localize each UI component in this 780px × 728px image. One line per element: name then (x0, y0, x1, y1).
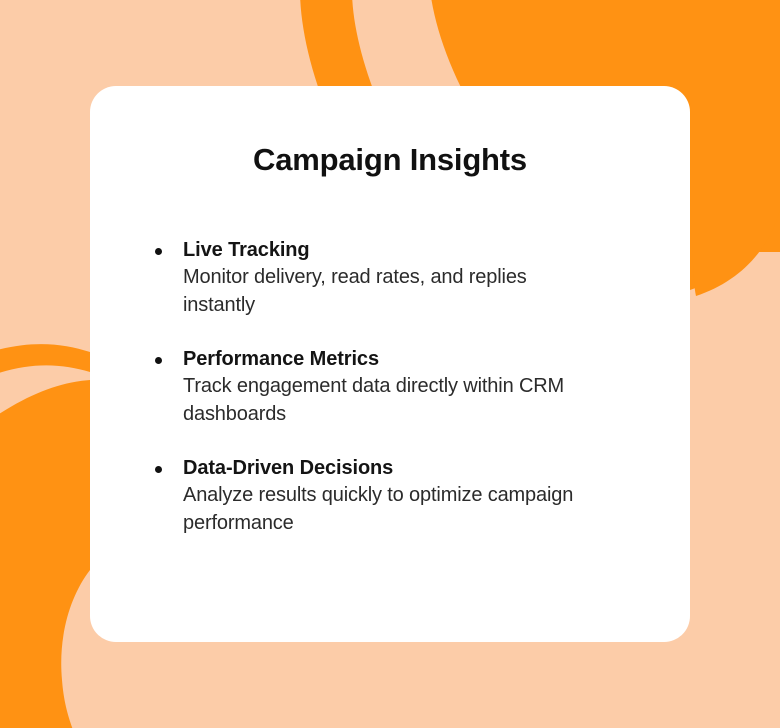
bullet-icon (155, 248, 162, 255)
insights-card: Campaign Insights Live Tracking Monitor … (90, 86, 690, 642)
right-orange-bulge-shape (690, 86, 780, 296)
bottom-left-orange-blob-shape (0, 380, 90, 728)
list-item-description: Monitor delivery, read rates, and replie… (183, 263, 603, 319)
bullet-icon (155, 466, 162, 473)
list-item: Live Tracking Monitor delivery, read rat… (145, 238, 657, 319)
slide-canvas: Campaign Insights Live Tracking Monitor … (0, 0, 780, 728)
list-item-title: Live Tracking (183, 238, 657, 263)
list-item-description: Analyze results quickly to optimize camp… (183, 481, 603, 537)
insights-list: Live Tracking Monitor delivery, read rat… (145, 238, 657, 537)
list-item: Performance Metrics Track engagement dat… (145, 347, 657, 428)
list-item: Data-Driven Decisions Analyze results qu… (145, 456, 657, 537)
list-item-title: Data-Driven Decisions (183, 456, 657, 481)
bottom-left-thin-orange-arc-shape (0, 344, 90, 376)
list-item-description: Track engagement data directly within CR… (183, 372, 603, 428)
page-title: Campaign Insights (90, 142, 690, 178)
list-item-title: Performance Metrics (183, 347, 657, 372)
bullet-icon (155, 357, 162, 364)
